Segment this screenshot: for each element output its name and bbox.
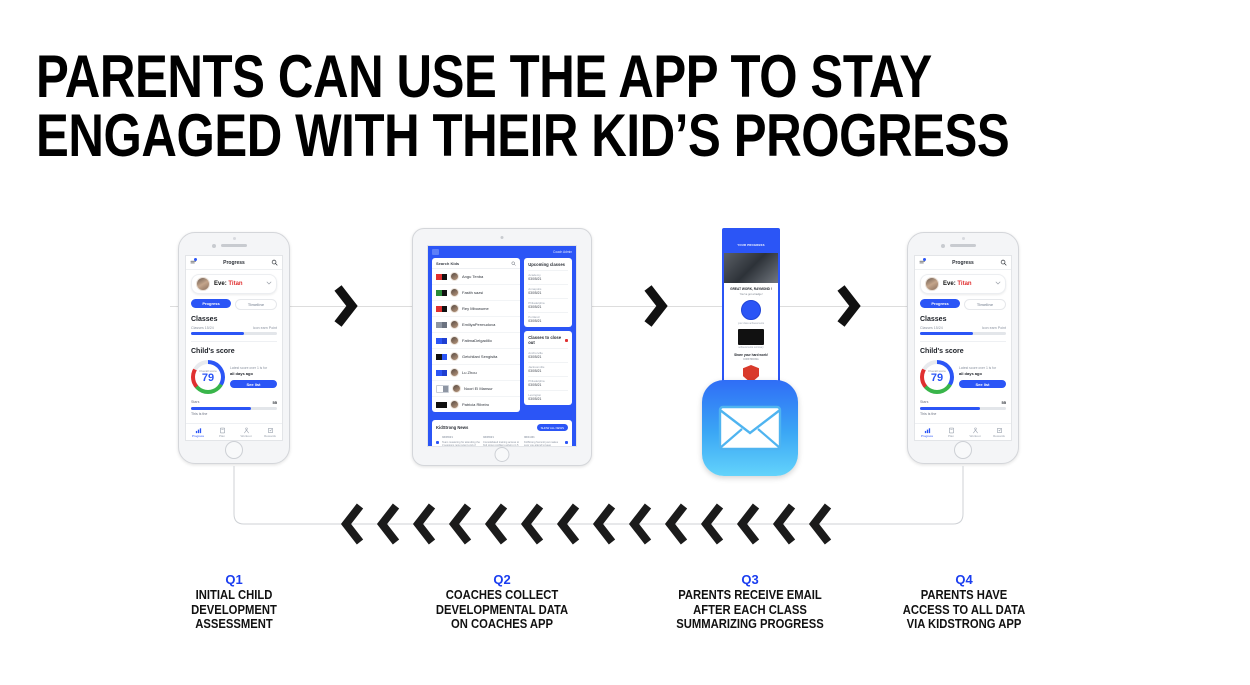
caption-q2-line-2: DEVELOPMENTAL DATA — [403, 603, 601, 618]
email-footer-title: Share your hard work! — [727, 353, 775, 357]
skill-next-labels: This is the — [191, 412, 277, 416]
score-section: Child's score — [920, 348, 1006, 355]
phone2-screen: Progress Eve: Titan Progress Timeline — [914, 255, 1012, 441]
caption-q1-text: INITIAL CHILD DEVELOPMENT ASSESSMENT — [135, 588, 333, 632]
nav-item-progress[interactable]: Progress — [915, 427, 939, 438]
table-row[interactable]: Jacksonville 03/05/21 — [528, 362, 568, 373]
class-date: 03/05/21 — [528, 383, 568, 387]
nav-label-progress: Progress — [192, 434, 204, 438]
classes-progress-bar — [920, 332, 1006, 335]
score-details: Latest score over 1 is for all days ago … — [230, 366, 277, 388]
score-timestamp: all days ago — [959, 371, 1006, 376]
child-team-name: Titan — [228, 281, 242, 287]
close-out-heading: Classes to close out — [528, 335, 565, 345]
email-brand-header: YOUR PROGRESS — [724, 230, 778, 253]
status-badge — [436, 402, 447, 408]
caption-q2-quarter: Q2 — [392, 572, 612, 587]
caption-q1: Q1 INITIAL CHILD DEVELOPMENT ASSESSMENT — [124, 572, 344, 632]
email-subgreeting: You’ve got a badge! — [727, 293, 775, 296]
skill-row: Stars 55 This is the — [191, 400, 277, 416]
front-camera-dot — [233, 237, 236, 240]
feedback-loop-chevrons — [335, 500, 845, 548]
email-envelope-icon[interactable] — [702, 380, 798, 476]
avatar — [452, 384, 461, 393]
search-icon[interactable] — [511, 261, 516, 266]
skill-labels: Stars 55 — [191, 400, 277, 405]
list-item[interactable]: FatimaDelgadillo — [432, 333, 520, 349]
home-button[interactable] — [954, 441, 972, 459]
classes-section: Classes Classes 15/24 Icon earn Point — [920, 316, 1006, 335]
classes-count: Classes 15/24 — [920, 326, 943, 330]
book-icon — [210, 427, 234, 434]
score-value: 79 — [199, 373, 217, 385]
nav-item-workout[interactable]: Workout — [234, 427, 258, 438]
list-item[interactable]: Rey Mbowume — [432, 301, 520, 317]
news-heading: KidStrong News — [436, 425, 468, 430]
upcoming-classes-panel: Upcoming classes Academy 03/05/21 Annapo… — [524, 258, 572, 327]
achievement-badge-icon — [741, 300, 761, 320]
caption-q3-quarter: Q3 — [640, 572, 860, 587]
skill-name: Stars — [191, 400, 199, 405]
bar-chart-icon — [186, 427, 210, 434]
phone1-screen: Progress Eve: Titan Progress Timeline — [185, 255, 283, 441]
caption-q1-line-1: INITIAL CHILD — [135, 588, 333, 603]
nav-item-rewards[interactable]: Rewards — [987, 427, 1011, 438]
device-email-step3: YOUR PROGRESS GREAT WORK, RAYMOND ! You’… — [700, 228, 805, 478]
close-out-classes-panel: Classes to close out Anchorville 03/05/2… — [524, 331, 572, 405]
child-name: Eve: Titan — [214, 281, 243, 287]
kid-name: Fasith sazsi — [462, 290, 483, 295]
score-heading: Child's score — [920, 348, 1006, 355]
notification-badge — [923, 258, 926, 261]
tablet-right-column: Upcoming classes Academy 03/05/21 Annapo… — [524, 258, 572, 412]
caption-q3-line-3: SUMMARIZING PROGRESS — [651, 617, 849, 632]
email-footer-sub: KIDSTRONG — [727, 358, 775, 361]
avatar — [450, 288, 459, 297]
email-body: GREAT WORK, RAYMOND ! You’ve got a badge… — [724, 283, 778, 387]
segmented-tabs: Progress Timeline — [920, 299, 1006, 310]
child-first-name: Eve — [943, 281, 954, 287]
score-heading: Child's score — [191, 348, 277, 355]
sensor-dot — [212, 244, 216, 248]
tablet-account-label[interactable]: Coach Admin — [553, 250, 572, 254]
status-badge — [436, 306, 447, 312]
segmented-tabs: Progress Timeline — [191, 299, 277, 310]
news-panel: KidStrong News SHOW ALL NEWS 03/05/21 Te… — [432, 420, 572, 447]
avatar — [450, 320, 459, 329]
caption-q3: Q3 PARENTS RECEIVE EMAIL AFTER EACH CLAS… — [640, 572, 860, 632]
flow-chevron-2 — [640, 284, 674, 330]
device-tablet-step2: Coach Admin Search Kids Angu Ten — [412, 228, 592, 466]
avatar — [450, 368, 459, 377]
kid-name: Angu Tenba — [462, 274, 483, 279]
tab-progress[interactable]: Progress — [920, 299, 960, 308]
process-flow-stage: Progress Eve: Titan Progress Timeline — [0, 210, 1250, 510]
list-item[interactable]: Getchilani Sengisita — [432, 349, 520, 365]
skill-row: Stars 55 This is the — [920, 400, 1006, 416]
carousel-prev-icon[interactable] — [436, 441, 439, 444]
avatar — [925, 277, 939, 291]
skill-progress-bar — [191, 407, 277, 410]
child-name: Eve: Titan — [943, 281, 972, 287]
news-card[interactable]: 06/11/21 KidStrong Summit just makes sur… — [524, 435, 562, 447]
kids-panel: Search Kids Angu Tenba — [432, 258, 520, 412]
front-camera-dot — [962, 237, 965, 240]
nav-item-plan[interactable]: Plan — [939, 427, 963, 438]
kids-list: Angu Tenba Fasith sazsi Rey Mbowume — [432, 269, 520, 412]
news-date: 03/05/21 — [442, 435, 480, 439]
person-icon — [234, 427, 258, 434]
skill-next-labels: This is the — [920, 412, 1006, 416]
skill-value: 55 — [273, 400, 277, 405]
caption-q1-quarter: Q1 — [124, 572, 344, 587]
email-brand-label: YOUR PROGRESS — [737, 243, 764, 247]
home-button[interactable] — [225, 441, 243, 459]
news-articles: 03/05/21 Team mastering for attending th… — [436, 435, 568, 447]
news-body: KidStrong Summit just makes sure you att… — [524, 441, 562, 448]
score-row: Overall score 79 Latest score over 1 is … — [920, 360, 1006, 394]
avatar — [450, 272, 459, 281]
see-list-button[interactable]: See list — [230, 380, 277, 388]
device-phone-step4: Progress Eve: Titan Progress Timeline — [907, 232, 1019, 464]
status-badge — [436, 290, 447, 296]
tab-timeline[interactable]: Timeline — [235, 299, 277, 310]
nav-item-workout[interactable]: Workout — [963, 427, 987, 438]
bottom-navigation: Progress Plan Workout — [186, 423, 282, 440]
email-summary-caption: achievements summary — [727, 346, 775, 349]
score-caption: Latest score over 1 is for — [959, 366, 1006, 370]
bar-chart-icon — [915, 427, 939, 434]
status-badge — [436, 322, 447, 328]
classes-heading: Classes — [920, 316, 1006, 323]
award-icon — [258, 427, 282, 434]
front-camera-dot — [501, 236, 504, 239]
table-row[interactable]: Annapolis 03/05/21 — [528, 284, 568, 295]
list-item[interactable]: Patricia Ribeiro — [432, 397, 520, 412]
kid-name: FatimaDelgadillo — [462, 338, 492, 343]
email-badge-caption: your class achievements — [727, 322, 775, 325]
search-kids-input[interactable]: Search Kids — [432, 258, 520, 269]
classes-meta: Classes 15/24 Icon earn Point — [191, 326, 277, 330]
close-out-heading-row: Classes to close out — [528, 335, 568, 345]
child-team-name: Titan — [957, 281, 971, 287]
kid-name: EmiliyaPermudova — [462, 322, 495, 327]
caption-q3-text: PARENTS RECEIVE EMAIL AFTER EACH CLASS S… — [651, 588, 849, 632]
caption-q3-line-2: AFTER EACH CLASS — [651, 603, 849, 618]
chevron-down-icon[interactable] — [266, 280, 272, 288]
avatar — [450, 304, 459, 313]
notification-badge — [194, 258, 197, 261]
news-card[interactable]: 03/05/21 Team mastering for attending th… — [442, 435, 480, 447]
table-row[interactable]: Lexington 03/05/21 — [528, 390, 568, 401]
nav-label-plan: Plan — [948, 434, 954, 438]
table-row[interactable]: Philadelphia 03/05/21 — [528, 298, 568, 309]
list-item[interactable]: Lu Zhou — [432, 365, 520, 381]
news-header: KidStrong News SHOW ALL NEWS — [436, 424, 568, 431]
classes-count: Classes 15/24 — [191, 326, 214, 330]
kid-name: Getchilani Sengisita — [462, 354, 497, 359]
table-row[interactable]: Portland 03/05/21 — [528, 312, 568, 323]
skill-value: 55 — [1002, 400, 1006, 405]
bottom-navigation: Progress Plan Workout — [915, 423, 1011, 440]
book-icon — [939, 427, 963, 434]
list-item[interactable]: Noori El Mansur — [432, 381, 520, 397]
page-title: PARENTS CAN USE THE APP TO STAY ENGAGED … — [36, 48, 774, 166]
news-body: Consolidated training access to find gro… — [483, 441, 521, 448]
score-timestamp: all days ago — [230, 371, 277, 376]
avatar — [450, 400, 459, 409]
caption-q4: Q4 PARENTS HAVE ACCESS TO ALL DATA VIA K… — [854, 572, 1074, 632]
status-badge — [436, 338, 447, 344]
title-line-2: ENGAGED WITH THEIR KID’S PROGRESS — [36, 107, 774, 166]
see-list-button[interactable]: See list — [959, 380, 1006, 388]
email-greeting: GREAT WORK, RAYMOND ! — [727, 287, 775, 291]
score-details: Latest score over 1 is for all days ago … — [959, 366, 1006, 388]
kid-name: Patricia Ribeiro — [462, 402, 489, 407]
divider — [920, 341, 1006, 342]
table-row[interactable]: Philadelphia 03/05/21 — [528, 376, 568, 387]
caption-q4-line-3: VIA KIDSTRONG APP — [865, 617, 1063, 632]
child-first-name: Eve — [214, 281, 225, 287]
caption-q1-line-2: DEVELOPMENT — [135, 603, 333, 618]
chevron-down-icon[interactable] — [995, 280, 1001, 288]
avatar — [196, 277, 210, 291]
table-row[interactable]: Academy 03/05/21 — [528, 270, 568, 281]
caption-q2-text: COACHES COLLECT DEVELOPMENTAL DATA ON CO… — [403, 588, 601, 632]
child-selector[interactable]: Eve: Titan — [920, 274, 1006, 294]
caption-q4-line-1: PARENTS HAVE — [865, 588, 1063, 603]
nav-item-progress[interactable]: Progress — [186, 427, 210, 438]
status-badge — [436, 385, 449, 393]
classes-heading: Classes — [191, 316, 277, 323]
nav-label-rewards: Rewards — [264, 434, 276, 438]
news-card[interactable]: 03/05/21 Consolidated training access to… — [483, 435, 521, 447]
nav-label-progress: Progress — [921, 434, 933, 438]
classes-section: Classes Classes 15/24 Icon earn Point — [191, 316, 277, 335]
caption-q2: Q2 COACHES COLLECT DEVELOPMENTAL DATA ON… — [392, 572, 612, 632]
award-icon — [987, 427, 1011, 434]
table-row[interactable]: Anchorville 03/05/21 — [528, 348, 568, 359]
class-date: 03/05/21 — [528, 369, 568, 373]
score-row: Overall score 79 Latest score over 1 is … — [191, 360, 277, 394]
list-item[interactable]: Angu Tenba — [432, 269, 520, 285]
list-item[interactable]: Fasith sazsi — [432, 285, 520, 301]
earpiece-speaker — [221, 244, 247, 247]
app-header: Progress — [186, 256, 282, 270]
device-phone-step1: Progress Eve: Titan Progress Timeline — [178, 232, 290, 464]
class-date: 03/05/21 — [528, 277, 568, 281]
carousel-next-icon[interactable] — [565, 441, 568, 444]
classes-progress-bar — [191, 332, 277, 335]
nav-label-rewards: Rewards — [993, 434, 1005, 438]
caption-q1-line-3: ASSESSMENT — [135, 617, 333, 632]
list-item[interactable]: EmiliyaPermudova — [432, 317, 520, 333]
caption-q4-quarter: Q4 — [854, 572, 1074, 587]
skill-progress-bar — [920, 407, 1006, 410]
kid-name: Rey Mbowume — [462, 306, 489, 311]
alert-dot-icon — [565, 339, 568, 342]
score-caption: Latest score over 1 is for — [230, 366, 277, 370]
class-date: 03/05/21 — [528, 397, 568, 401]
skill-next-name: This is the — [920, 412, 936, 416]
tab-timeline[interactable]: Timeline — [964, 299, 1006, 310]
caption-q2-line-3: ON COACHES APP — [403, 617, 601, 632]
news-date: 06/11/21 — [524, 435, 562, 439]
class-date: 03/05/21 — [528, 291, 568, 295]
class-date: 03/05/21 — [528, 319, 568, 323]
class-date: 03/05/21 — [528, 305, 568, 309]
nav-item-plan[interactable]: Plan — [210, 427, 234, 438]
earpiece-speaker — [950, 244, 976, 247]
email-hero-image — [724, 253, 778, 283]
skill-labels: Stars 55 — [920, 400, 1006, 405]
skill-next-name: This is the — [191, 412, 207, 416]
kid-name: Lu Zhou — [462, 370, 477, 375]
score-section: Child's score — [191, 348, 277, 355]
classes-points: Icon earn Point — [982, 326, 1006, 330]
caption-q2-line-1: COACHES COLLECT — [403, 588, 601, 603]
step-captions: Q1 INITIAL CHILD DEVELOPMENT ASSESSMENT … — [0, 572, 1250, 642]
kid-name: Noori El Mansur — [464, 386, 493, 391]
nav-label-plan: Plan — [219, 434, 225, 438]
sensor-dot — [941, 244, 945, 248]
caption-q4-line-2: ACCESS TO ALL DATA — [865, 603, 1063, 618]
email-summary-image — [738, 329, 764, 345]
app-header-title: Progress — [926, 260, 1000, 266]
classes-points: Icon earn Point — [253, 326, 277, 330]
home-button[interactable] — [495, 447, 510, 462]
hamburger-icon[interactable] — [432, 249, 439, 255]
classes-meta: Classes 15/24 Icon earn Point — [920, 326, 1006, 330]
avatar — [450, 336, 459, 345]
status-badge — [436, 370, 447, 376]
child-selector[interactable]: Eve: Titan — [191, 274, 277, 294]
news-date: 03/05/21 — [483, 435, 521, 439]
nav-label-workout: Workout — [240, 434, 251, 438]
news-body: Team mastering for attending the 3 sessi… — [442, 441, 480, 448]
app-header-title: Progress — [197, 260, 271, 266]
tablet-body: Search Kids Angu Tenba — [428, 258, 576, 416]
app-header: Progress — [915, 256, 1011, 270]
tablet-topbar: Coach Admin — [428, 246, 576, 258]
person-icon — [963, 427, 987, 434]
status-badge — [436, 354, 447, 360]
flow-chevron-3 — [833, 284, 867, 330]
caption-q4-text: PARENTS HAVE ACCESS TO ALL DATA VIA KIDS… — [865, 588, 1063, 632]
nav-label-workout: Workout — [969, 434, 980, 438]
search-icon[interactable] — [271, 259, 278, 266]
avatar — [450, 352, 459, 361]
nav-item-rewards[interactable]: Rewards — [258, 427, 282, 438]
status-badge — [436, 274, 447, 280]
score-donut-chart: Overall score 79 — [191, 360, 225, 394]
score-donut-chart: Overall score 79 — [920, 360, 954, 394]
caption-q3-line-1: PARENTS RECEIVE EMAIL — [651, 588, 849, 603]
tablet-screen: Coach Admin Search Kids Angu Ten — [427, 245, 577, 447]
score-value: 79 — [928, 373, 946, 385]
title-line-1: PARENTS CAN USE THE APP TO STAY — [36, 48, 774, 107]
show-all-news-button[interactable]: SHOW ALL NEWS — [537, 424, 568, 431]
upcoming-classes-heading: Upcoming classes — [528, 262, 568, 267]
search-icon[interactable] — [1000, 259, 1007, 266]
search-kids-label: Search Kids — [436, 261, 459, 266]
class-date: 03/05/21 — [528, 355, 568, 359]
flow-chevron-1 — [330, 284, 364, 330]
tab-progress[interactable]: Progress — [191, 299, 231, 308]
divider — [191, 341, 277, 342]
skill-name: Stars — [920, 400, 928, 405]
